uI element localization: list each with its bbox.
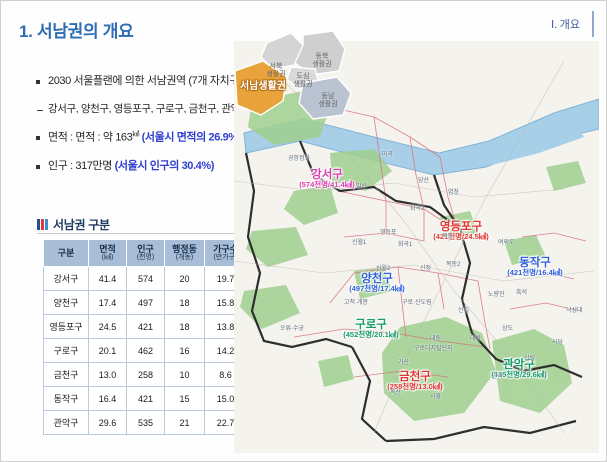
cell-area: 20.1 — [89, 339, 127, 363]
seoul-zone-inset-map: 서북생활권 동북생활권 도심생활권 동남생활권 서남생활권 — [233, 19, 361, 131]
cell-pop: 421 — [127, 387, 165, 411]
cell-pop: 497 — [127, 291, 165, 315]
col-header-population: 인구 (천명) — [127, 240, 165, 267]
col-header-gubun-label: 구분 — [58, 248, 75, 258]
table-heading-rule — [37, 233, 237, 234]
col-header-area-label: 면적 — [99, 244, 116, 254]
cell-gu: 금천구 — [44, 363, 89, 387]
cell-gu: 강서구 — [44, 267, 89, 291]
col-header-dong: 행정동 (개동) — [165, 240, 205, 267]
cell-area: 29.6 — [89, 411, 127, 435]
bar-chart-icon — [37, 219, 48, 230]
col-header-dong-label: 행정동 — [172, 244, 197, 254]
col-header-dong-unit: (개동) — [167, 254, 202, 262]
col-header-gubun: 구분 — [44, 240, 89, 267]
cell-pop: 258 — [127, 363, 165, 387]
col-header-population-unit: (천명) — [129, 254, 162, 262]
cell-dong: 15 — [165, 387, 205, 411]
cell-area: 17.4 — [89, 291, 127, 315]
cell-dong: 10 — [165, 363, 205, 387]
table-heading-label: 서남권 구분 — [53, 216, 110, 233]
presentation-slide: 1. 서남권의 개요 Ⅰ. 개요 2030 서울플랜에 의한 서남권역 (7개 … — [0, 0, 607, 462]
section-tag-rule — [592, 11, 594, 37]
cell-gu: 동작구 — [44, 387, 89, 411]
cell-pop: 462 — [127, 339, 165, 363]
bullet-text-4-highlight: (서울시 인구의 30.4%) — [115, 160, 214, 172]
bullet-text-4-plain: 인구 : 317만명 — [48, 160, 115, 172]
cell-dong: 20 — [165, 267, 205, 291]
cell-area: 16.4 — [89, 387, 127, 411]
area-unit: ㎢ — [132, 131, 139, 138]
inset-map-graphic — [233, 19, 361, 131]
cell-pop: 421 — [127, 315, 165, 339]
bullet-text-1: 2030 서울플랜에 의한 서남권역 (7개 자치구) — [48, 75, 242, 87]
cell-dong: 21 — [165, 411, 205, 435]
cell-pop: 535 — [127, 411, 165, 435]
cell-gu: 관악구 — [44, 411, 89, 435]
col-header-population-label: 인구 — [137, 244, 154, 254]
cell-area: 13.0 — [89, 363, 127, 387]
cell-gu: 구로구 — [44, 339, 89, 363]
cell-area: 24.5 — [89, 315, 127, 339]
bullet-text-3-plain: 면적 : 면적 : 약 163 — [48, 131, 132, 143]
page-title: 1. 서남권의 개요 — [19, 17, 133, 42]
section-tag: Ⅰ. 개요 — [551, 16, 580, 32]
cell-dong: 18 — [165, 315, 205, 339]
cell-gu: 양천구 — [44, 291, 89, 315]
cell-area: 41.4 — [89, 267, 127, 291]
col-header-area: 면적 (㎢) — [89, 240, 127, 267]
cell-dong: 18 — [165, 291, 205, 315]
bullet-text-3-highlight: (서울시 면적의 26.9%) — [142, 131, 241, 143]
table-heading: 서남권 구분 — [37, 216, 110, 233]
col-header-area-unit: (㎢) — [91, 254, 124, 262]
cell-dong: 16 — [165, 339, 205, 363]
cell-pop: 574 — [127, 267, 165, 291]
cell-gu: 영등포구 — [44, 315, 89, 339]
